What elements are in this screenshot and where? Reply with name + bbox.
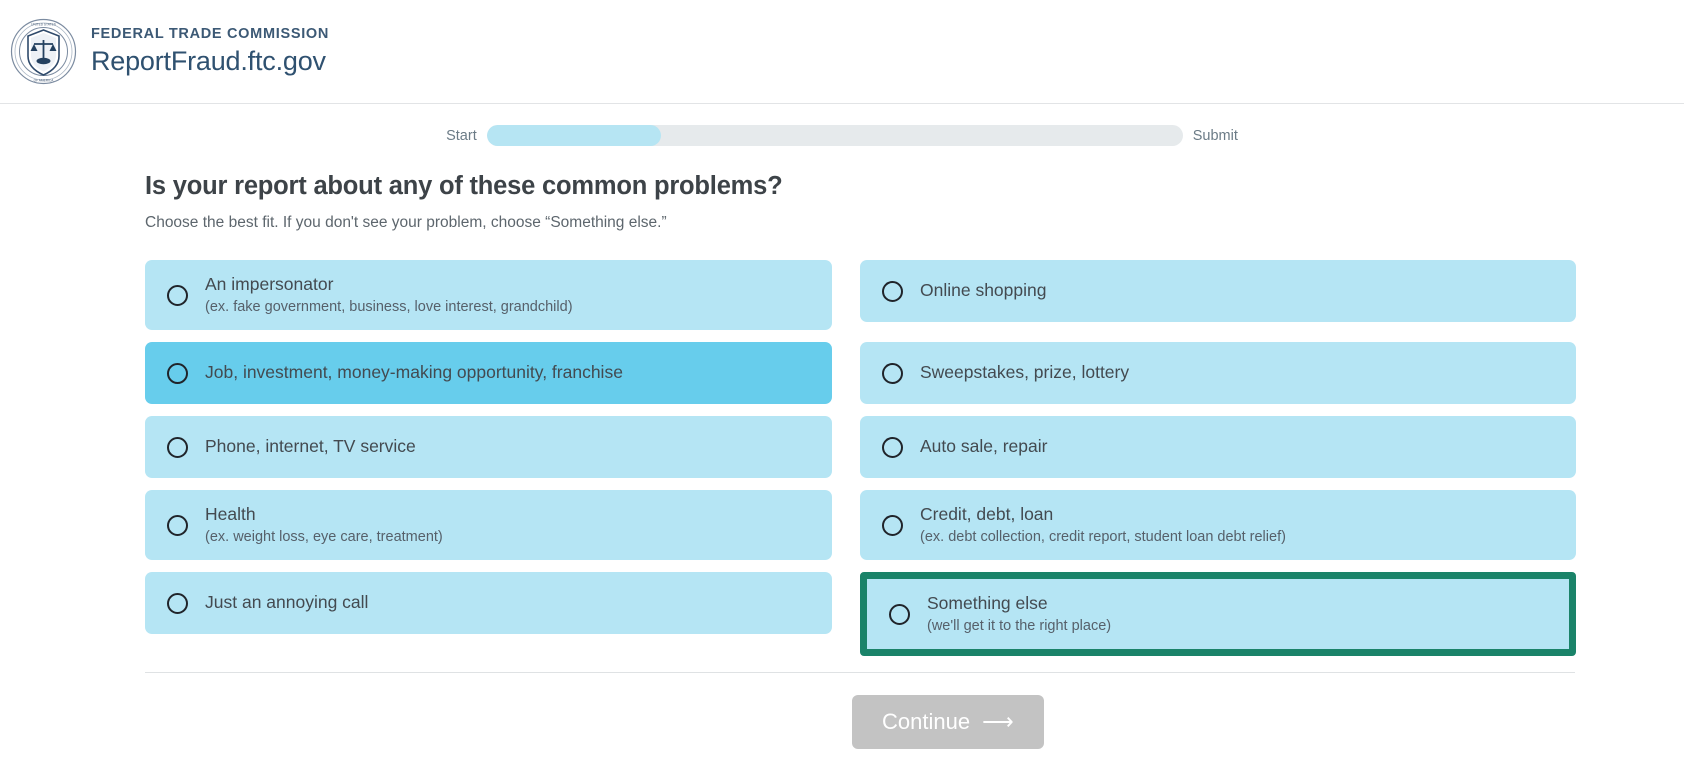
- option-label: Just an annoying call: [205, 592, 368, 614]
- option-cell: Online shopping: [860, 254, 1576, 336]
- option-card[interactable]: Something else(we'll get it to the right…: [867, 579, 1569, 649]
- svg-text:UNITED STATES: UNITED STATES: [31, 23, 56, 27]
- option-card[interactable]: Phone, internet, TV service: [145, 416, 832, 478]
- option-label: Something else: [927, 593, 1111, 615]
- progress-submit-label: Submit: [1193, 128, 1238, 144]
- option-label: Phone, internet, TV service: [205, 436, 416, 458]
- site-name: ReportFraud.ftc.gov: [91, 47, 329, 77]
- progress-fill: [487, 125, 661, 146]
- option-cell: An impersonator(ex. fake government, bus…: [145, 254, 832, 336]
- progress-start-label: Start: [446, 128, 477, 144]
- option-cell: Job, investment, money-making opportunit…: [145, 336, 832, 410]
- option-card[interactable]: Health(ex. weight loss, eye care, treatm…: [145, 490, 832, 560]
- radio-button-icon[interactable]: [167, 515, 188, 536]
- option-text: Online shopping: [920, 280, 1046, 302]
- option-text: Credit, debt, loan(ex. debt collection, …: [920, 504, 1286, 546]
- progress-track: [487, 125, 1183, 146]
- option-label: An impersonator: [205, 274, 573, 296]
- option-label: Sweepstakes, prize, lottery: [920, 362, 1129, 384]
- radio-button-icon[interactable]: [882, 515, 903, 536]
- option-hint: (we'll get it to the right place): [927, 617, 1111, 635]
- radio-button-icon[interactable]: [882, 363, 903, 384]
- brand-lockup[interactable]: UNITED STATES OF AMERICA FEDERAL TRADE C…: [10, 18, 329, 85]
- problem-options-grid: An impersonator(ex. fake government, bus…: [145, 254, 1684, 662]
- radio-button-icon[interactable]: [882, 281, 903, 302]
- option-text: Sweepstakes, prize, lottery: [920, 362, 1129, 384]
- option-label: Credit, debt, loan: [920, 504, 1286, 526]
- radio-button-icon[interactable]: [167, 285, 188, 306]
- option-card[interactable]: Job, investment, money-making opportunit…: [145, 342, 832, 404]
- page-subtitle: Choose the best fit. If you don't see yo…: [145, 214, 1684, 232]
- continue-button[interactable]: Continue ⟶: [852, 695, 1044, 749]
- site-header: UNITED STATES OF AMERICA FEDERAL TRADE C…: [0, 0, 1684, 104]
- svg-text:OF AMERICA: OF AMERICA: [34, 78, 55, 82]
- option-card[interactable]: Auto sale, repair: [860, 416, 1576, 478]
- ftc-seal-icon: UNITED STATES OF AMERICA: [10, 18, 77, 85]
- radio-button-icon[interactable]: [167, 363, 188, 384]
- agency-name: FEDERAL TRADE COMMISSION: [91, 27, 329, 43]
- option-text: Something else(we'll get it to the right…: [927, 593, 1111, 635]
- option-cell: Just an annoying call: [145, 566, 832, 662]
- option-card[interactable]: An impersonator(ex. fake government, bus…: [145, 260, 832, 330]
- option-text: Phone, internet, TV service: [205, 436, 416, 458]
- progress-indicator: Start Submit: [0, 125, 1684, 146]
- form-actions: Continue ⟶: [0, 695, 1684, 749]
- option-hint: (ex. fake government, business, love int…: [205, 298, 573, 316]
- option-cell: Something else(we'll get it to the right…: [860, 572, 1576, 656]
- option-text: Auto sale, repair: [920, 436, 1047, 458]
- option-label: Job, investment, money-making opportunit…: [205, 362, 623, 384]
- option-card[interactable]: Online shopping: [860, 260, 1576, 322]
- radio-button-icon[interactable]: [882, 437, 903, 458]
- option-cell: Health(ex. weight loss, eye care, treatm…: [145, 484, 832, 566]
- option-cell: Sweepstakes, prize, lottery: [860, 336, 1576, 410]
- option-card[interactable]: Credit, debt, loan(ex. debt collection, …: [860, 490, 1576, 560]
- brand-text: FEDERAL TRADE COMMISSION ReportFraud.ftc…: [91, 27, 329, 77]
- radio-button-icon[interactable]: [167, 593, 188, 614]
- option-hint: (ex. debt collection, credit report, stu…: [920, 528, 1286, 546]
- option-card[interactable]: Sweepstakes, prize, lottery: [860, 342, 1576, 404]
- option-text: Health(ex. weight loss, eye care, treatm…: [205, 504, 443, 546]
- option-label: Online shopping: [920, 280, 1046, 302]
- option-text: Just an annoying call: [205, 592, 368, 614]
- option-hint: (ex. weight loss, eye care, treatment): [205, 528, 443, 546]
- continue-button-label: Continue: [882, 709, 970, 735]
- option-label: Auto sale, repair: [920, 436, 1047, 458]
- section-divider: [145, 672, 1575, 673]
- option-cell: Credit, debt, loan(ex. debt collection, …: [860, 484, 1576, 566]
- arrow-right-icon: ⟶: [982, 711, 1014, 733]
- option-cell: Phone, internet, TV service: [145, 410, 832, 484]
- radio-button-icon[interactable]: [889, 604, 910, 625]
- main-content: Is your report about any of these common…: [0, 172, 1684, 662]
- option-label: Health: [205, 504, 443, 526]
- option-text: An impersonator(ex. fake government, bus…: [205, 274, 573, 316]
- option-card[interactable]: Just an annoying call: [145, 572, 832, 634]
- page-title: Is your report about any of these common…: [145, 172, 1684, 201]
- option-text: Job, investment, money-making opportunit…: [205, 362, 623, 384]
- option-cell: Auto sale, repair: [860, 410, 1576, 484]
- radio-button-icon[interactable]: [167, 437, 188, 458]
